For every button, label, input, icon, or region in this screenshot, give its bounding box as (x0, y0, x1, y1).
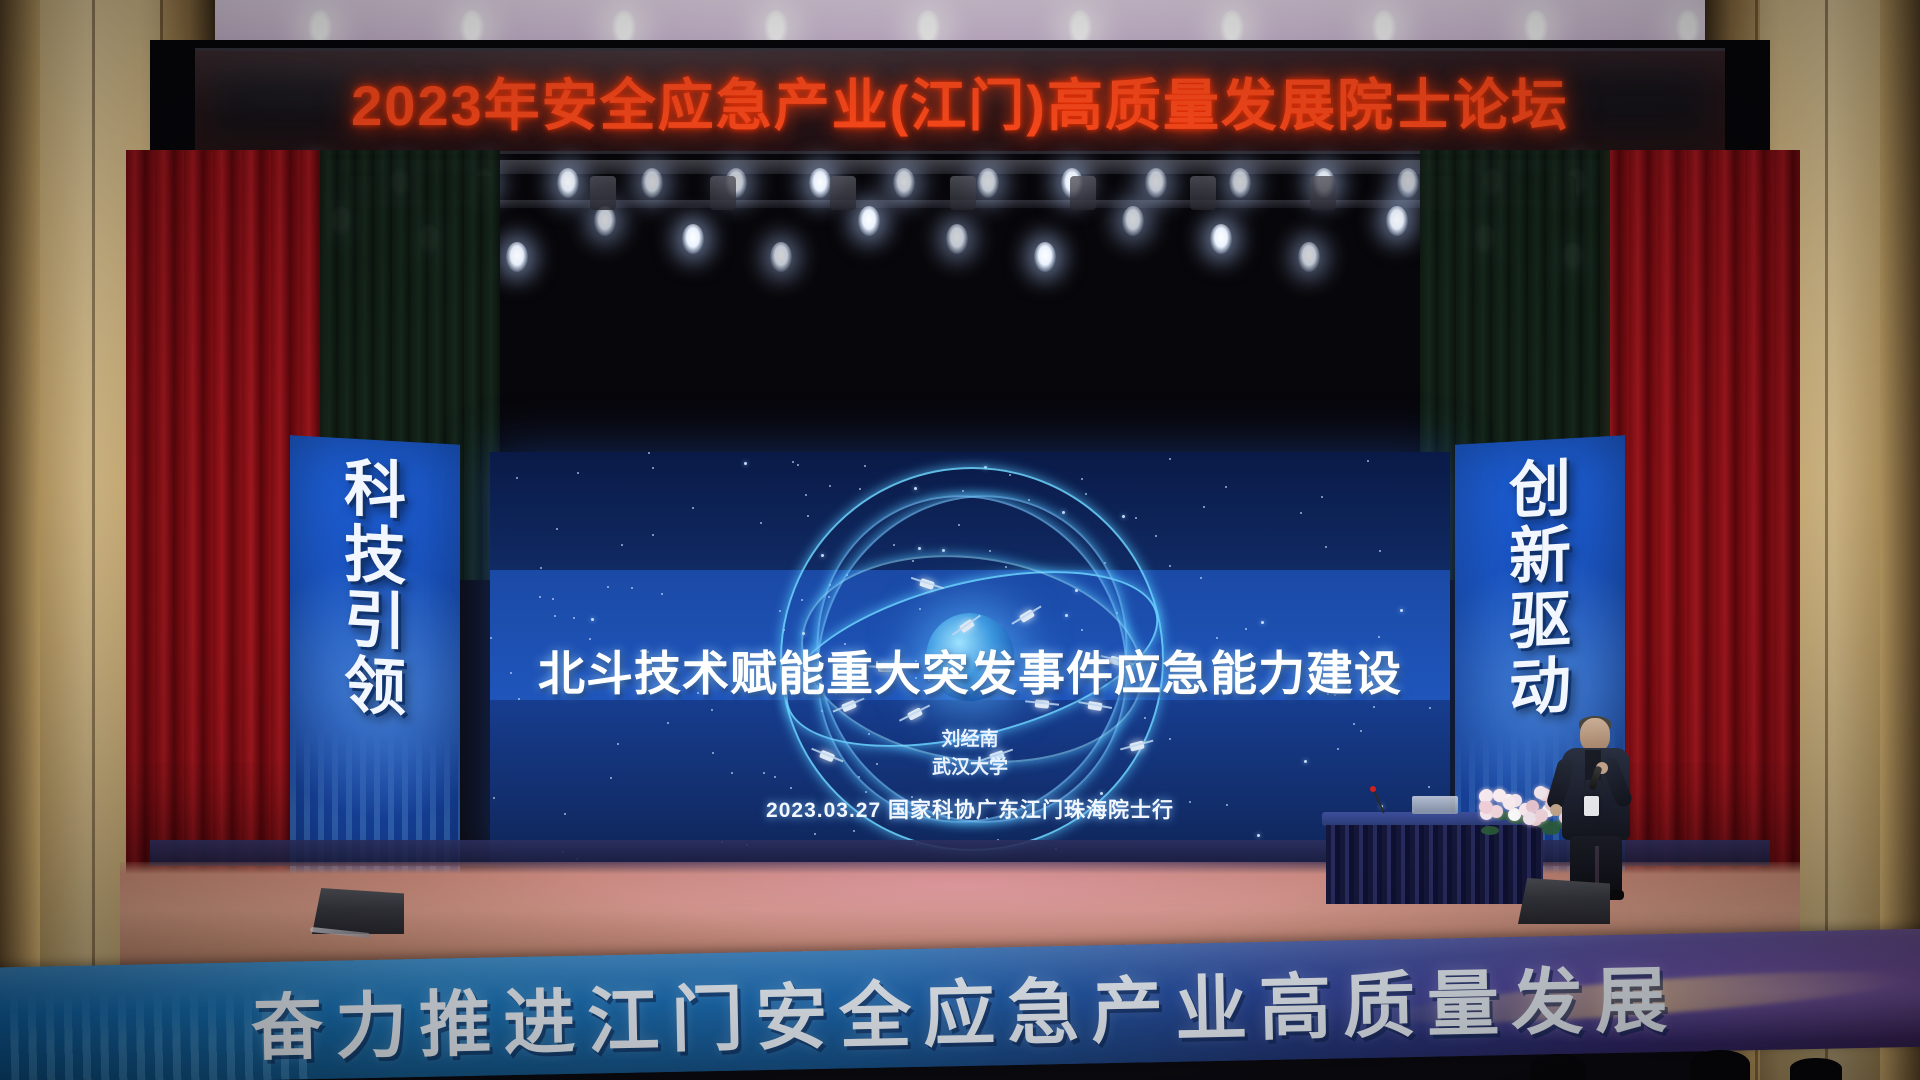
star (779, 610, 781, 612)
star (577, 472, 579, 474)
star (797, 464, 799, 466)
star (814, 833, 816, 835)
head (1580, 718, 1610, 752)
presentation-title: 北斗技术赋能重大突发事件应急能力建设 (490, 635, 1450, 704)
star (853, 830, 855, 832)
marquee-title-text: 2023年安全应急产业(江门)高质量发展院士论坛 (351, 61, 1569, 142)
star (1257, 834, 1260, 837)
left-char-3: 引 (290, 585, 460, 660)
star (1245, 628, 1247, 630)
audience-head-silhouette (1690, 1050, 1750, 1080)
truss-spotlight (557, 168, 579, 198)
star (864, 465, 866, 467)
audience-head-silhouette (1530, 1054, 1586, 1080)
star (554, 615, 556, 617)
star (1135, 517, 1137, 519)
star (648, 452, 650, 454)
truss-spotlight (1229, 168, 1251, 198)
truss-spotlight (594, 206, 616, 236)
truss-spotlight (946, 224, 968, 254)
main-led-screen: 北斗技术赋能重大突发事件应急能力建设 刘经南 武汉大学 2023.03.27 国… (490, 452, 1450, 862)
truss-spotlight (641, 168, 663, 198)
flower (1534, 786, 1547, 799)
truss-spotlight (682, 224, 704, 254)
star (805, 494, 807, 496)
truss-spotlight (977, 168, 999, 198)
truss-spotlight (1122, 206, 1144, 236)
truss-spotlight (1298, 242, 1320, 272)
presenter-organization: 武汉大学 (490, 752, 1450, 779)
right-char-2: 新 (1455, 519, 1625, 594)
led-marquee-banner: 2023年安全应急产业(江门)高质量发展院士论坛 (195, 48, 1725, 154)
side-led-panel-left: 科 技 引 领 (290, 435, 460, 885)
star (1225, 486, 1227, 488)
lanyard (1584, 780, 1603, 797)
leaf (1481, 826, 1499, 835)
side-panel-right-text: 创 新 驱 动 (1455, 453, 1625, 725)
star (539, 596, 541, 598)
star (607, 586, 609, 588)
truss-spotlight (1034, 242, 1056, 272)
light-fixture-body (1310, 176, 1336, 210)
right-char-1: 创 (1455, 453, 1625, 528)
star (1400, 609, 1403, 612)
star (1200, 577, 1202, 579)
left-char-4: 领 (290, 650, 460, 725)
truss-spotlight (1145, 168, 1167, 198)
star (556, 528, 558, 530)
star (573, 617, 575, 619)
truss-spotlight (809, 168, 831, 198)
right-char-4: 动 (1455, 650, 1625, 725)
star (1169, 458, 1171, 460)
star (540, 567, 542, 569)
light-fixture-body (830, 176, 856, 210)
star (711, 709, 713, 711)
star (516, 477, 518, 479)
star (1122, 515, 1125, 518)
table-skirt (1326, 825, 1543, 904)
flower (1523, 812, 1536, 825)
star (1321, 496, 1323, 498)
star (790, 787, 792, 789)
truss-spotlight (770, 242, 792, 272)
hand-left (1550, 804, 1562, 816)
audience-head-silhouette (1790, 1058, 1842, 1080)
side-panel-left-text: 科 技 引 领 (290, 453, 460, 725)
star (1169, 565, 1171, 567)
left-char-1: 科 (290, 453, 460, 528)
star (760, 522, 762, 524)
laptop-icon (1412, 796, 1458, 814)
star (1373, 706, 1375, 708)
microphone-icon (1370, 786, 1376, 792)
star (1325, 546, 1327, 548)
light-fixture-body (1070, 176, 1096, 210)
presenter-figure (1548, 718, 1644, 900)
right-char-3: 驱 (1455, 585, 1625, 660)
star (859, 488, 861, 490)
star (1261, 621, 1264, 624)
star (661, 593, 663, 595)
light-fixture-body (710, 176, 736, 210)
star (631, 587, 633, 589)
truss-spotlight (1210, 224, 1232, 254)
light-fixture-body (950, 176, 976, 210)
wall-seam (1825, 0, 1828, 1080)
star (1300, 512, 1302, 514)
stage-photo-scene: 2023年安全应急产业(江门)高质量发展院士论坛 科 技 引 领 创 新 驱 动 (0, 0, 1920, 1080)
truss-spotlight (1386, 206, 1408, 236)
flower (1535, 809, 1548, 822)
truss-spotlight (893, 168, 915, 198)
star (1367, 460, 1369, 462)
wall-seam (92, 0, 95, 1080)
stage-monitor-left (312, 888, 404, 934)
presentation-footer: 2023.03.27 国家科协广东江门珠海院士行 (490, 794, 1450, 824)
star (1203, 506, 1205, 508)
truss-spotlight (506, 242, 528, 272)
star (1155, 535, 1157, 537)
stage-monitor-right (1518, 878, 1610, 924)
star (652, 534, 654, 536)
light-fixture-body (1190, 176, 1216, 210)
star (829, 485, 831, 487)
truss-spotlight (1397, 168, 1419, 198)
star (692, 507, 694, 509)
star (1429, 707, 1431, 709)
star (744, 462, 747, 465)
flower (1480, 801, 1493, 814)
left-char-2: 技 (290, 519, 460, 594)
star (591, 618, 594, 621)
star (652, 467, 654, 469)
star (621, 544, 623, 546)
star (1085, 493, 1087, 495)
star (552, 598, 554, 600)
star (807, 515, 809, 517)
star (1379, 550, 1381, 552)
presenter-name: 刘经南 (490, 724, 1450, 751)
truss-spotlight (858, 206, 880, 236)
light-fixture-body (590, 176, 616, 210)
star (1428, 786, 1430, 788)
star (792, 461, 794, 463)
star (1081, 478, 1083, 480)
conference-table (1322, 812, 1547, 904)
flower (1480, 789, 1493, 802)
name-badge (1584, 796, 1599, 816)
